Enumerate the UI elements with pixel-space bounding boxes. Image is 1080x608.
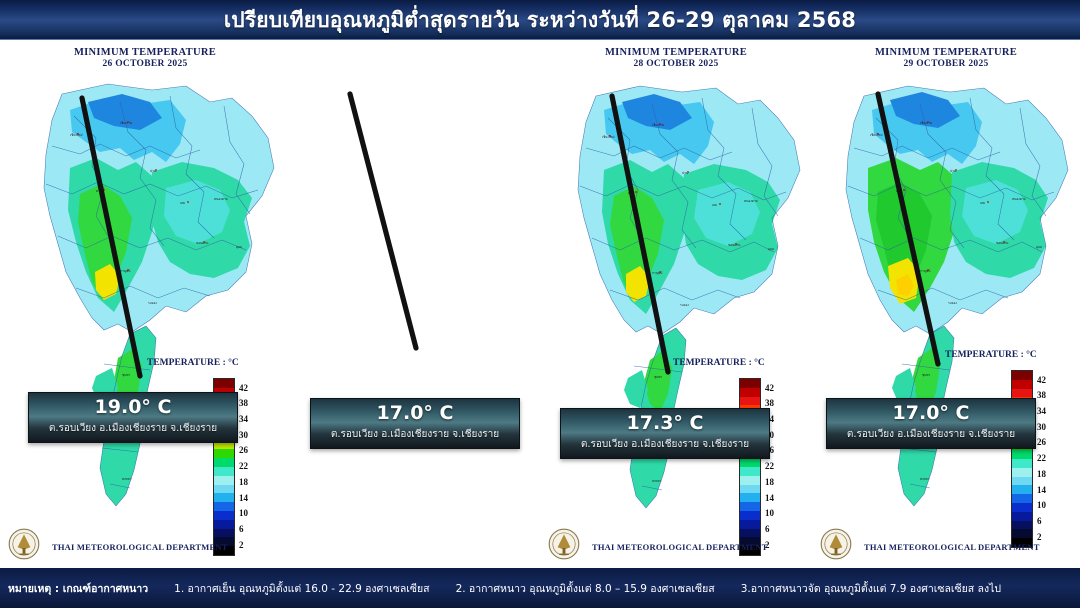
map-pointer-line-2 (350, 94, 416, 348)
map-panels-container: MINIMUM TEMPERATURE 26 OCTOBER 2025 (0, 40, 1080, 568)
map-panel-27-october: 17.0° C ต.รอบเวียง อ.เมืองเชียงราย จ.เชี… (290, 40, 540, 568)
panel-3-heading: MINIMUM TEMPERATURE 28 OCTOBER 2025 (540, 46, 812, 71)
svg-text:หนองคาย: หนองคาย (214, 197, 228, 201)
legend-tick-18: 18 (1037, 469, 1046, 479)
org-row-1: THAI METEOROLOGICAL DEPARTMENT (0, 526, 290, 562)
map-panel-26-october: MINIMUM TEMPERATURE 26 OCTOBER 2025 (0, 40, 290, 568)
legend-color-segment-14 (214, 502, 234, 511)
legend-color-segment-9 (214, 458, 234, 467)
tmd-seal-icon-1 (8, 528, 40, 560)
note-lead: หมายเหตุ : เกณฑ์อากาศหนาว (8, 580, 148, 597)
legend-colorbar-4 (1011, 370, 1033, 548)
legend-tick-22: 22 (1037, 453, 1046, 463)
callout-temperature-1: 19.0° C (33, 398, 233, 418)
legend-color-segment-9 (740, 458, 760, 467)
legend-label-4: TEMPERATURE : °C (945, 350, 1080, 360)
legend-tick-10: 10 (765, 508, 774, 518)
legend-color-segment-15 (214, 511, 234, 520)
svg-text:หนองคาย: หนองคาย (744, 199, 758, 203)
map-panel-29-october: MINIMUM TEMPERATURE 29 OCTOBER 2025 (812, 40, 1080, 568)
legend-tick-34: 34 (1037, 406, 1046, 416)
callout-box-28-october: 17.3° C ต.รอบเวียง อ.เมืองเชียงราย จ.เชี… (560, 408, 770, 459)
svg-text:สงขลา: สงขลา (920, 477, 930, 481)
panel-1-heading: MINIMUM TEMPERATURE 26 OCTOBER 2025 (0, 46, 290, 71)
svg-text:เลย: เลย (980, 201, 985, 205)
legend-tick-22: 22 (765, 461, 774, 471)
legend-color-segment-2 (1012, 389, 1032, 398)
page-title: เปรียบเทียบอุณหภูมิต่ำสุดรายวัน ระหว่างว… (224, 4, 856, 37)
legend-color-segment-13 (1012, 485, 1032, 494)
legend-color-segment-11 (214, 476, 234, 485)
note-item-2: 2. อากาศหนาว อุณหภูมิตั้งแต่ 8.0 – 15.9 … (456, 580, 715, 597)
callout-place-3: ต.รอบเวียง อ.เมืองเชียงราย จ.เชียงราย (565, 437, 765, 452)
org-name-3: THAI METEOROLOGICAL DEPARTMENT (592, 542, 810, 552)
legend-color-segment-10 (1012, 459, 1032, 468)
legend-color-segment-15 (740, 511, 760, 520)
callout-place-2: ต.รอบเวียง อ.เมืองเชียงราย จ.เชียงราย (315, 427, 515, 442)
callout-place-4: ต.รอบเวียง อ.เมืองเชียงราย จ.เชียงราย (831, 427, 1031, 442)
callout-temperature-2: 17.0° C (315, 404, 515, 424)
legend-color-segment-8 (214, 449, 234, 458)
org-name-1: THAI METEOROLOGICAL DEPARTMENT (52, 542, 288, 552)
legend-color-segment-9 (1012, 450, 1032, 459)
svg-text:เชียงราย: เชียงราย (920, 121, 932, 125)
svg-text:เลย: เลย (180, 201, 185, 205)
svg-text:ระยอง: ระยอง (948, 301, 957, 305)
legend-label-1: TEMPERATURE : °C (147, 358, 307, 368)
legend-color-segment-2 (740, 397, 760, 406)
svg-text:เชียงราย: เชียงราย (120, 121, 132, 125)
legend-tick-10: 10 (239, 508, 248, 518)
tmd-seal-icon-4 (820, 528, 852, 560)
legend-label-3: TEMPERATURE : °C (673, 358, 833, 368)
legend-tick-42: 42 (239, 383, 248, 393)
callout-temperature-3: 17.3° C (565, 414, 765, 434)
legend-tick-6: 6 (1037, 516, 1042, 526)
legend-color-segment-12 (1012, 477, 1032, 486)
legend-tick-42: 42 (765, 383, 774, 393)
svg-text:สงขลา: สงขลา (652, 479, 662, 483)
panel-4-date: 29 OCTOBER 2025 (812, 59, 1080, 71)
legend-tick-14: 14 (239, 493, 248, 503)
svg-text:ระยอง: ระยอง (680, 303, 689, 307)
legend-color-segment-11 (1012, 468, 1032, 477)
legend-color-segment-12 (740, 485, 760, 494)
panel-4-heading: MINIMUM TEMPERATURE 29 OCTOBER 2025 (812, 46, 1080, 71)
legend-color-segment-12 (214, 485, 234, 494)
legend-tick-26: 26 (239, 445, 248, 455)
legend-tick-38: 38 (239, 398, 248, 408)
legend-color-segment-14 (1012, 494, 1032, 503)
legend-tick-30: 30 (1037, 422, 1046, 432)
svg-text:ขอนแก่น: ขอนแก่น (196, 241, 209, 245)
legend-color-segment-11 (740, 476, 760, 485)
legend-color-segment-16 (1012, 512, 1032, 521)
legend-tick-30: 30 (239, 430, 248, 440)
legend-color-segment-0 (214, 379, 234, 388)
callout-place-1: ต.รอบเวียง อ.เมืองเชียงราย จ.เชียงราย (33, 421, 233, 436)
svg-text:ขอนแก่น: ขอนแก่น (728, 243, 741, 247)
callout-box-27-october: 17.0° C ต.รอบเวียง อ.เมืองเชียงราย จ.เชี… (310, 398, 520, 449)
legend-tick-38: 38 (765, 398, 774, 408)
legend-color-segment-13 (214, 493, 234, 502)
legend-tick-18: 18 (239, 477, 248, 487)
org-name-4: THAI METEOROLOGICAL DEPARTMENT (864, 542, 1078, 552)
legend-color-segment-13 (740, 493, 760, 502)
callout-box-29-october: 17.0° C ต.รอบเวียง อ.เมืองเชียงราย จ.เชี… (826, 398, 1036, 449)
panel-3-date: 28 OCTOBER 2025 (540, 59, 812, 71)
footer-note-bar: หมายเหตุ : เกณฑ์อากาศหนาว 1. อากาศเย็น อ… (0, 568, 1080, 608)
legend-color-segment-10 (214, 467, 234, 476)
svg-text:กาญจน์: กาญจน์ (652, 271, 663, 275)
svg-text:ระยอง: ระยอง (148, 301, 157, 305)
thailand-map-2-missing (290, 76, 540, 522)
panel-4-title: MINIMUM TEMPERATURE (812, 46, 1080, 59)
panel-1-title: MINIMUM TEMPERATURE (0, 46, 290, 59)
legend-color-segment-10 (740, 467, 760, 476)
panel-3-title: MINIMUM TEMPERATURE (540, 46, 812, 59)
tmd-seal-icon-3 (548, 528, 580, 560)
legend-tick-22: 22 (239, 461, 248, 471)
legend-tick-42: 42 (1037, 375, 1046, 385)
svg-text:กาญจน์: กาญจน์ (920, 269, 931, 273)
legend-ticks-4: 42383430262218141062 (1037, 370, 1071, 548)
svg-text:สงขลา: สงขลา (122, 477, 132, 481)
legend-color-segment-14 (740, 502, 760, 511)
org-row-3: THAI METEOROLOGICAL DEPARTMENT (540, 526, 812, 562)
svg-text:ขอนแก่น: ขอนแก่น (996, 241, 1009, 245)
note-item-3: 3.อากาศหนาวจัด อุณหภูมิตั้งแต่ 7.9 องศาเ… (741, 580, 1001, 597)
legend-tick-10: 10 (1037, 500, 1046, 510)
note-item-1: 1. อากาศเย็น อุณหภูมิตั้งแต่ 16.0 - 22.9… (174, 580, 429, 597)
svg-text:กาญจน์: กาญจน์ (120, 269, 131, 273)
footer-note-inner: หมายเหตุ : เกณฑ์อากาศหนาว 1. อากาศเย็น อ… (8, 568, 1072, 608)
svg-text:เชียงใหม่: เชียงใหม่ (870, 133, 882, 137)
legend-tick-18: 18 (765, 477, 774, 487)
map-panel-28-october: MINIMUM TEMPERATURE 28 OCTOBER 2025 (540, 40, 812, 568)
legend-tick-26: 26 (1037, 437, 1046, 447)
svg-text:เชียงใหม่: เชียงใหม่ (602, 135, 614, 139)
page-title-bar: เปรียบเทียบอุณหภูมิต่ำสุดรายวัน ระหว่างว… (0, 0, 1080, 40)
svg-text:เชียงใหม่: เชียงใหม่ (70, 133, 82, 137)
legend-color-segment-15 (1012, 503, 1032, 512)
legend-color-segment-0 (1012, 371, 1032, 380)
legend-tick-14: 14 (1037, 485, 1046, 495)
callout-box-26-october: 19.0° C ต.รอบเวียง อ.เมืองเชียงราย จ.เชี… (28, 392, 238, 443)
legend-tick-14: 14 (765, 493, 774, 503)
legend-tick-34: 34 (239, 414, 248, 424)
legend-color-segment-0 (740, 379, 760, 388)
svg-text:เลย: เลย (712, 203, 717, 207)
legend-color-segment-1 (740, 388, 760, 397)
panel-1-date: 26 OCTOBER 2025 (0, 59, 290, 71)
callout-temperature-4: 17.0° C (831, 404, 1031, 424)
legend-color-segment-1 (1012, 380, 1032, 389)
legend-tick-38: 38 (1037, 390, 1046, 400)
org-row-4: THAI METEOROLOGICAL DEPARTMENT (812, 526, 1080, 562)
svg-text:หนองคาย: หนองคาย (1012, 197, 1026, 201)
svg-text:เชียงราย: เชียงราย (652, 123, 664, 127)
